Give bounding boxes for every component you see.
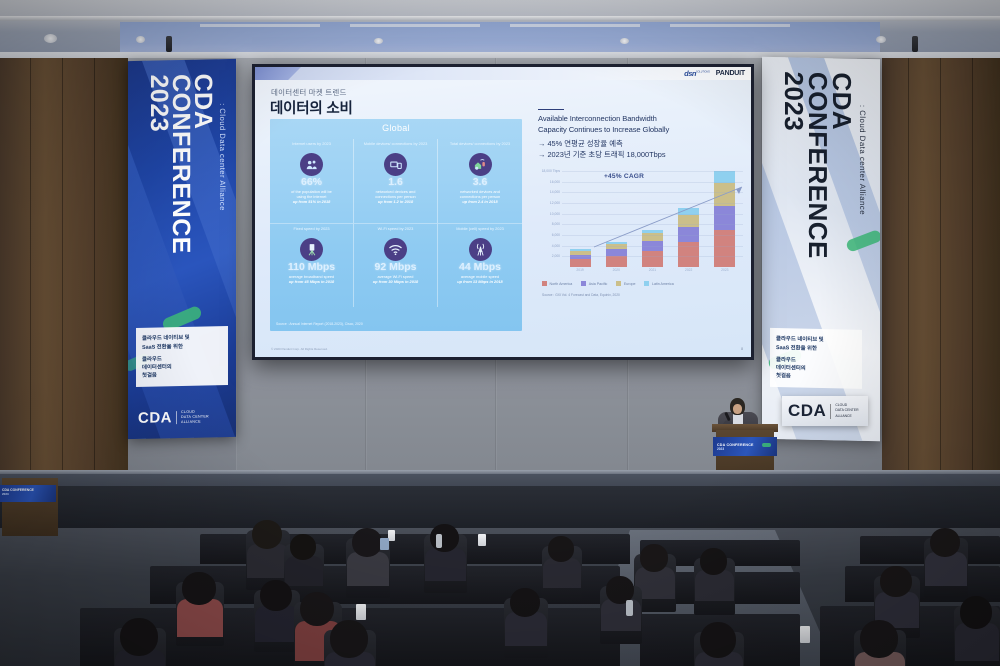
global-infographic-card: Global Internet users by 2023 66% of the… bbox=[270, 119, 522, 331]
legend-label: North America bbox=[550, 282, 573, 286]
ceiling-light bbox=[620, 38, 629, 44]
chart-x-axis: 20192020202120222023 bbox=[562, 268, 743, 276]
accent-rule bbox=[538, 109, 564, 110]
water-bottle bbox=[436, 534, 442, 548]
chart-x-tick: 2020 bbox=[606, 268, 627, 276]
slide-top-bar bbox=[255, 67, 751, 80]
cda-logo-mark: CDA bbox=[138, 409, 172, 427]
ceiling-slot bbox=[670, 24, 790, 27]
logo-divider bbox=[176, 411, 177, 424]
water-bottle bbox=[626, 600, 633, 616]
infographic-grid: Internet users by 2023 66% of the popula… bbox=[270, 139, 522, 307]
ceiling-spotlight bbox=[912, 36, 918, 52]
info-cell-value: 110 Mbps bbox=[274, 262, 349, 273]
podium-sign: CDA CONFERENCE 2023 bbox=[713, 437, 777, 456]
audience-person-body bbox=[601, 599, 641, 631]
info-cell-caption: Mobile devices/ connections by 2023 bbox=[358, 142, 433, 151]
info-cell-caption: Total devices/ connections by 2023 bbox=[442, 142, 518, 151]
audience-person-head bbox=[352, 528, 382, 557]
info-cell-value: 1.6 bbox=[358, 177, 433, 188]
info-cell-desc: average Wi-Fi speed up from 30 Mbps in 2… bbox=[358, 274, 433, 284]
info-cell: Internet users by 2023 66% of the popula… bbox=[270, 139, 354, 223]
slide: dsnSOLUTIONS PANDUIT 데이터센터 마켓 트렌드 데이터의 소… bbox=[255, 67, 751, 357]
slide-logos: dsnSOLUTIONS PANDUIT bbox=[684, 69, 745, 78]
projection-screen: dsnSOLUTIONS PANDUIT 데이터센터 마켓 트렌드 데이터의 소… bbox=[252, 64, 754, 360]
chart-source: Source : GXI Vol. 4 Forecast and Data, E… bbox=[542, 293, 620, 297]
chart-bar bbox=[678, 208, 699, 267]
info-cell-desc: networked devices and connections per pe… bbox=[358, 189, 433, 204]
chart-gridline bbox=[562, 182, 743, 183]
podium-sign-line2: 2023 bbox=[2, 492, 56, 496]
chart-y-tick: 6,000 bbox=[552, 233, 560, 237]
info-cell: Fixed speed by 2023 110 Mbps average bro… bbox=[270, 223, 354, 307]
cda-logo-subtitle: CLOUD DATA CENTER ALLIANCE bbox=[181, 409, 209, 425]
ceiling-light bbox=[374, 38, 383, 44]
banner-title-year: 2023 bbox=[146, 74, 172, 132]
stage-cda-logo: CDA CLOUD DATA CENTER ALLIANCE bbox=[782, 396, 868, 426]
audience-person-head bbox=[930, 528, 960, 557]
banner-korean-box: 클라우드 네이티브 및 SaaS 전환을 위한 클라우드 데이터센터의 첫걸음 bbox=[770, 328, 862, 388]
drink-cup bbox=[800, 626, 810, 643]
audience-person-head bbox=[120, 618, 158, 656]
audience-person-body bbox=[925, 552, 967, 586]
banner-subtitle: : Cloud Data center Alliance bbox=[218, 103, 227, 211]
audience-person-body bbox=[255, 606, 299, 642]
chart-y-tick: 16,000 bbox=[550, 180, 560, 184]
chart-legend-item: Europe bbox=[616, 281, 635, 286]
slide-copyright: © 2020 Panduit Corp. All Rights Reserved… bbox=[271, 347, 328, 351]
chart-bar-segment bbox=[714, 206, 735, 230]
banner-subtitle: : Cloud Data center Alliance bbox=[858, 105, 867, 215]
ceiling-light bbox=[44, 34, 57, 43]
info-cell: Wi-Fi speed by 2023 92 Mbps average Wi-F… bbox=[354, 223, 438, 307]
chart-gridline bbox=[562, 235, 743, 236]
info-cell-value: 66% bbox=[274, 177, 349, 188]
banner-cda-logo: CDA CLOUD DATA CENTER ALLIANCE bbox=[138, 408, 209, 426]
chart-gridline bbox=[562, 192, 743, 193]
panduit-logo: PANDUIT bbox=[716, 70, 745, 77]
drink-cup bbox=[356, 604, 366, 620]
wall-wood-left bbox=[0, 58, 128, 470]
chart-gridline bbox=[562, 171, 743, 172]
info-cell-desc: average mobile speed up from 13 Mbps in … bbox=[442, 274, 518, 284]
dsn-logo: dsnSOLUTIONS bbox=[684, 69, 710, 78]
audience-person-head bbox=[252, 520, 282, 549]
info-cell-value: 3.6 bbox=[442, 177, 518, 188]
wall-wood-right bbox=[882, 58, 1000, 470]
bandwidth-chart: +45% CAGR 2,0004,0006,0008,00010,00012,0… bbox=[538, 171, 743, 289]
banner-left: CDA CONFERENCE 2023 : Cloud Data center … bbox=[128, 59, 236, 439]
chart-plot-area bbox=[562, 171, 743, 267]
chart-y-tick: 18,000 Tbps bbox=[542, 169, 560, 173]
ceiling-slot bbox=[200, 24, 320, 27]
slide-page-number: 8 bbox=[741, 347, 743, 351]
banner-kr-line2: SaaS 전환을 위한 bbox=[142, 342, 222, 352]
chart-y-tick: 2,000 bbox=[552, 254, 560, 258]
legend-label: Europe bbox=[624, 282, 636, 286]
info-cell-value: 92 Mbps bbox=[358, 262, 433, 273]
cda-logo-subtitle: CLOUD DATA CENTER ALLIANCE bbox=[835, 403, 858, 418]
chart-x-tick: 2021 bbox=[642, 268, 663, 276]
broadband-icon bbox=[300, 238, 323, 261]
cell-tower-icon bbox=[469, 238, 492, 261]
chart-y-tick: 10,000 bbox=[550, 212, 560, 216]
chart-y-axis: 2,0004,0006,0008,00010,00012,00014,00016… bbox=[538, 171, 562, 267]
info-cell: Total devices/ connections by 2023 3.6 n… bbox=[438, 139, 522, 223]
audience-person-head bbox=[700, 548, 727, 575]
chart-y-tick: 8,000 bbox=[552, 222, 560, 226]
info-cell-caption: Mobile (cell) speed by 2023 bbox=[442, 227, 518, 236]
ceiling-light bbox=[876, 36, 886, 43]
audience-person-head bbox=[430, 524, 459, 552]
banner-title-year: 2023 bbox=[780, 71, 807, 131]
legend-label: Asia Pacific bbox=[589, 282, 608, 286]
chart-gridline bbox=[562, 224, 743, 225]
banner-kr-line5: 첫걸음 bbox=[776, 372, 856, 382]
stage-edge bbox=[0, 470, 1000, 474]
audience-person-body bbox=[347, 552, 389, 586]
legend-label: Latin America bbox=[652, 282, 674, 286]
infographic-heading: Global bbox=[270, 123, 522, 133]
audience-person-body bbox=[177, 599, 223, 637]
chart-x-tick: 2022 bbox=[678, 268, 699, 276]
legend-swatch bbox=[542, 281, 547, 286]
info-cell: Mobile devices/ connections by 2023 1.6 … bbox=[354, 139, 438, 223]
audience-person-body bbox=[247, 544, 289, 578]
bandwidth-bullets: → 45% 연평균 성장율 예측 → 2023년 기준 초당 트래픽 18,00… bbox=[538, 138, 743, 160]
conference-photo: CDA CONFERENCE 2023 : Cloud Data center … bbox=[0, 0, 1000, 666]
podium-sign-line2: 2023 bbox=[717, 447, 777, 451]
info-cell-caption: Fixed speed by 2023 bbox=[274, 227, 349, 236]
audience-person-head bbox=[290, 534, 316, 560]
chart-bars bbox=[562, 171, 743, 267]
ceiling-slot bbox=[350, 24, 480, 27]
chart-y-tick: 14,000 bbox=[550, 190, 560, 194]
speaker-face bbox=[733, 404, 742, 414]
ceiling bbox=[0, 0, 1000, 58]
smart-home-icon bbox=[469, 153, 492, 176]
audience-person-head bbox=[880, 566, 912, 597]
ceiling-light bbox=[136, 36, 145, 43]
ceiling-band bbox=[0, 16, 1000, 21]
chart-bar bbox=[570, 249, 591, 267]
audience-person-head bbox=[700, 622, 736, 658]
audience-person-head bbox=[182, 572, 216, 605]
info-cell-desc: networked devices and connections per pe… bbox=[442, 189, 518, 204]
audience-person-head bbox=[548, 536, 574, 562]
podium-secondary-sign: CDA CONFERENCE 2023 bbox=[0, 485, 56, 502]
chart-legend-item: North America bbox=[542, 281, 572, 286]
audience-person-head bbox=[510, 588, 540, 617]
chart-bar-segment bbox=[642, 251, 663, 267]
info-cell-value: 44 Mbps bbox=[442, 262, 518, 273]
wifi-icon bbox=[384, 238, 407, 261]
infographic-source: Source : Annual Internet Report (2018-20… bbox=[276, 322, 363, 326]
devices-icon bbox=[384, 153, 407, 176]
podium-accent-pill bbox=[762, 443, 771, 447]
drink-cup bbox=[388, 530, 395, 541]
bandwidth-block: Available Interconnection Bandwidth Capa… bbox=[538, 109, 743, 329]
info-cell-desc: of the population will be using the inte… bbox=[274, 189, 349, 204]
info-cell: Mobile (cell) speed by 2023 44 Mbps aver… bbox=[438, 223, 522, 307]
audience-person-body bbox=[505, 612, 547, 646]
chart-bar-segment bbox=[606, 256, 627, 267]
chart-x-tick: 2023 bbox=[714, 268, 735, 276]
chart-gridline bbox=[562, 214, 743, 215]
chart-x-tick: 2019 bbox=[570, 268, 591, 276]
smartphone-icon bbox=[380, 538, 389, 550]
chart-bar-segment bbox=[570, 259, 591, 267]
audience-person-head bbox=[330, 620, 368, 658]
users-icon bbox=[300, 153, 323, 176]
ceiling-slot bbox=[510, 24, 640, 27]
info-cell-desc: average broadband speed up from 45 Mbps … bbox=[274, 274, 349, 284]
chart-legend-item: Asia Pacific bbox=[581, 281, 607, 286]
info-cell-caption: Wi-Fi speed by 2023 bbox=[358, 227, 433, 236]
logo-divider bbox=[830, 404, 831, 419]
cda-logo-mark: CDA bbox=[788, 401, 826, 421]
legend-swatch bbox=[644, 281, 649, 286]
audience-person-body bbox=[543, 558, 581, 588]
legend-swatch bbox=[616, 281, 621, 286]
stage-front-face bbox=[0, 486, 1000, 530]
info-cell-caption: Internet users by 2023 bbox=[274, 142, 349, 151]
chart-bar bbox=[714, 171, 735, 267]
audience-person-head bbox=[260, 580, 292, 611]
chart-y-tick: 12,000 bbox=[550, 201, 560, 205]
banner-kr-line5: 첫걸음 bbox=[142, 370, 222, 380]
banner-kr-line2: SaaS 전환을 위한 bbox=[776, 344, 856, 354]
chart-gridline bbox=[562, 203, 743, 204]
slide-title: 데이터의 소비 bbox=[270, 97, 353, 118]
banner-right: CDA CONFERENCE 2023 : Cloud Data center … bbox=[762, 57, 880, 441]
legend-swatch bbox=[581, 281, 586, 286]
audience-person-body bbox=[695, 570, 734, 601]
chart-y-tick: 4,000 bbox=[552, 244, 560, 248]
ceiling-spotlight bbox=[166, 36, 172, 52]
audience-person-head bbox=[300, 592, 334, 626]
chart-gridline bbox=[562, 246, 743, 247]
audience-person-head bbox=[960, 596, 992, 629]
chart-gridline bbox=[562, 256, 743, 257]
banner-korean-box: 클라우드 네이티브 및 SaaS 전환을 위한 클라우드 데이터센터의 첫걸음 bbox=[136, 326, 228, 386]
audience-person-body bbox=[955, 623, 999, 661]
bandwidth-headline: Available Interconnection Bandwidth Capa… bbox=[538, 114, 743, 136]
audience-person-body bbox=[285, 556, 323, 586]
drink-cup bbox=[478, 534, 486, 546]
chart-legend: North AmericaAsia PacificEuropeLatin Ame… bbox=[542, 281, 674, 286]
chart-legend-item: Latin America bbox=[644, 281, 673, 286]
audience-person-head bbox=[860, 620, 898, 658]
audience-person-head bbox=[640, 544, 668, 572]
audience-person-body bbox=[425, 548, 466, 581]
